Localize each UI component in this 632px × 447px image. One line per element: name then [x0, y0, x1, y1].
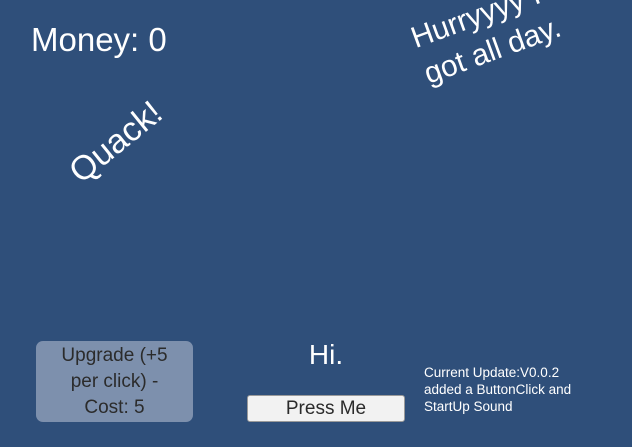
update-notes: Current Update:V0.0.2 added a ButtonClic…: [424, 364, 624, 415]
update-notes-line-1: Current Update:V0.0.2: [424, 364, 624, 381]
update-notes-line-3: StartUp Sound: [424, 398, 624, 415]
upgrade-button-label-line-3: Cost: 5: [61, 395, 167, 421]
upgrade-button-label: Upgrade (+5 per click) - Cost: 5: [61, 343, 167, 421]
upgrade-button-label-line-1: Upgrade (+5: [61, 343, 167, 369]
press-me-button[interactable]: Press Me: [247, 395, 405, 422]
click-status-label: Hi.: [247, 338, 405, 372]
upgrade-button-label-line-2: per click) -: [61, 369, 167, 395]
hurry-flavor-text: Hurryyyy I dont got all day.: [406, 0, 632, 93]
money-counter: Money: 0: [31, 21, 167, 59]
update-notes-line-2: added a ButtonClick and: [424, 381, 624, 398]
game-stage: Money: 0 Quack! Hurryyyy I dont got all …: [0, 0, 632, 447]
upgrade-button[interactable]: Upgrade (+5 per click) - Cost: 5: [36, 341, 193, 422]
quack-flavor-text: Quack!: [61, 93, 170, 192]
